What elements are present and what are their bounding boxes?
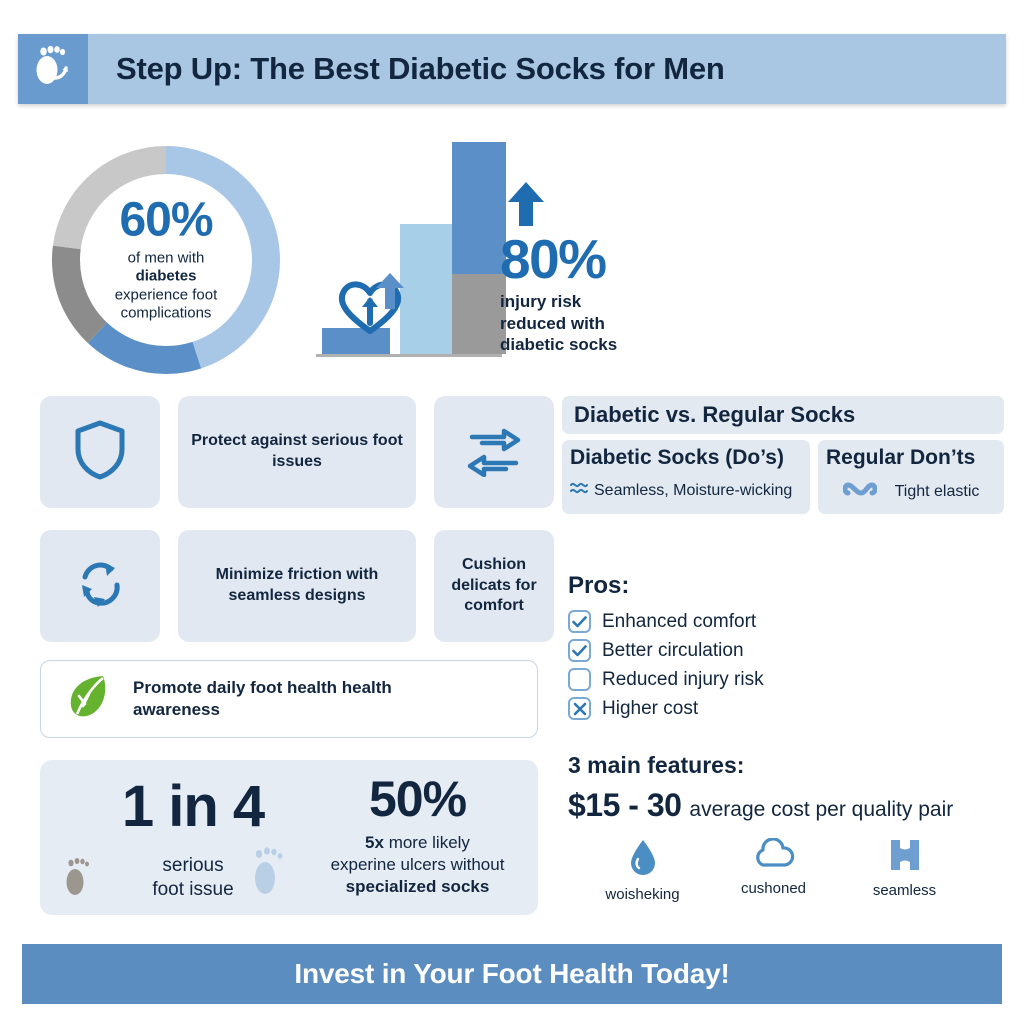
- donut-subtitle: of men with diabetes experience foot com…: [86, 250, 246, 324]
- feature-item-label: woisheking: [590, 886, 695, 903]
- footprint-arrow-icon: [31, 42, 75, 97]
- comparison-title: Diabetic vs. Regular Socks: [562, 396, 1004, 434]
- feature-card-cushion[interactable]: Cushion delicats for comfort: [434, 530, 554, 642]
- stat-80-line2: reduced with: [500, 314, 605, 333]
- comparison-column-dont: Regular Don’ts Tight elastic: [818, 440, 1004, 514]
- swap-arrows-icon: [464, 423, 524, 482]
- pros-item[interactable]: Enhanced comfort: [568, 610, 988, 633]
- leaf-banner[interactable]: Promote daily foot health health awarene…: [40, 660, 538, 738]
- donut-sub-line2: diabetes: [136, 268, 197, 285]
- wave-lines-icon: [570, 479, 588, 502]
- pros-section: Pros: Enhanced comfort Better circulatio…: [568, 572, 988, 726]
- feature-card-label: Protect against serious foot issues: [186, 431, 408, 473]
- page-header: Step Up: The Best Diabetic Socks for Men: [18, 34, 1006, 104]
- stat-1in4-label: serious foot issue: [88, 854, 298, 902]
- bar-chart: [312, 145, 502, 360]
- stat-80-line1: injury risk: [500, 292, 581, 311]
- price-line: $15 - 30 average cost per quality pair: [568, 787, 1008, 824]
- stat-50: 50% 5x more likely experine ulcers witho…: [310, 774, 525, 898]
- water-drop-icon: [628, 863, 658, 880]
- stat-1in4-value: 1 in 4: [88, 778, 298, 836]
- stat-50-line1: more likely: [384, 833, 470, 852]
- feature-card-shield[interactable]: [40, 396, 160, 508]
- stat-1in4-line2: foot issue: [152, 879, 233, 900]
- header-icon-tile: [18, 34, 88, 104]
- donut-chart: 60% of men with diabetes experience foot…: [46, 140, 286, 380]
- stat-50-line2: experine ulcers without: [331, 855, 505, 874]
- stat-80-percent: 80%: [500, 233, 680, 285]
- comparison-do-item: Seamless, Moisture-wicking: [594, 482, 792, 500]
- small-up-arrow-icon: [374, 271, 406, 316]
- seamless-h-icon: [889, 859, 921, 876]
- comparison-do-row: Seamless, Moisture-wicking: [570, 479, 802, 502]
- cloud-icon: [753, 857, 795, 874]
- checkbox-empty-icon[interactable]: [568, 668, 591, 691]
- donut-percent: 60%: [86, 197, 246, 245]
- pros-item-label: Enhanced comfort: [602, 611, 756, 633]
- bottom-stats-block: 1 in 4 serious foot issue 50% 5x more li…: [40, 760, 538, 915]
- recycle-arrows-icon: [71, 555, 129, 618]
- pros-item-label: Higher cost: [602, 698, 698, 720]
- pros-item[interactable]: Better circulation: [568, 639, 988, 662]
- stat-80-line3: diabetic socks: [500, 335, 617, 354]
- donut-sub-line4: complications: [121, 305, 212, 322]
- price-description: average cost per quality pair: [689, 798, 953, 822]
- shield-icon: [74, 419, 126, 486]
- feature-card-label: Minimize friction with seamless designs: [186, 565, 408, 607]
- feature-card-grid: Protect against serious foot issues Mini…: [40, 396, 540, 642]
- infinity-icon: [843, 479, 877, 504]
- leaf-icon: [65, 672, 109, 727]
- stat-1in4: 1 in 4 serious foot issue: [88, 778, 298, 902]
- pros-title: Pros:: [568, 572, 988, 600]
- pros-item[interactable]: Reduced injury risk: [568, 668, 988, 691]
- leaf-banner-text: Promote daily foot health health awarene…: [133, 677, 463, 722]
- bar-chart-baseline: [316, 354, 502, 357]
- features-title: 3 main features:: [568, 752, 1008, 779]
- bar-3-upper: [452, 142, 506, 274]
- stat-50-line3: specialized socks: [346, 877, 490, 896]
- feature-card-protect[interactable]: Protect against serious foot issues: [178, 396, 416, 508]
- footer-cta-text: Invest in Your Foot Health Today!: [294, 958, 729, 990]
- comparison-dont-heading: Regular Don’ts: [826, 446, 996, 470]
- page-footer: Invest in Your Foot Health Today!: [22, 944, 1002, 1004]
- donut-sub-line3: experience foot: [115, 287, 218, 304]
- page-title: Step Up: The Best Diabetic Socks for Men: [116, 51, 725, 87]
- feature-item-label: seamless: [852, 882, 957, 899]
- stat-50-value: 50%: [310, 774, 525, 824]
- pros-item-label: Reduced injury risk: [602, 669, 764, 691]
- pros-item[interactable]: Higher cost: [568, 697, 988, 720]
- comparison-column-do: Diabetic Socks (Do’s) Seamless, Moisture…: [562, 440, 810, 514]
- feature-item-seamless[interactable]: seamless: [852, 838, 957, 903]
- feature-card-swap[interactable]: [434, 396, 554, 508]
- stat-50-label: 5x more likely experine ulcers without s…: [310, 832, 525, 898]
- stat-1in4-line1: serious: [162, 855, 223, 876]
- stat-50-prefix: 5x: [365, 833, 384, 852]
- features-section: 3 main features: $15 - 30 average cost p…: [568, 752, 1008, 903]
- feature-card-recycle[interactable]: [40, 530, 160, 642]
- checkbox-checked-icon[interactable]: [568, 639, 591, 662]
- comparison-dont-item: Tight elastic: [895, 483, 980, 501]
- comparison-do-heading: Diabetic Socks (Do’s): [570, 446, 802, 470]
- feature-item-cushioned[interactable]: cushoned: [721, 838, 826, 903]
- feature-card-label: Cushion delicats for comfort: [442, 555, 546, 617]
- pros-item-label: Better circulation: [602, 640, 744, 662]
- stat-80-block: 80% injury risk reduced with diabetic so…: [500, 180, 680, 356]
- stat-80-subtitle: injury risk reduced with diabetic socks: [500, 291, 680, 356]
- donut-center-label: 60% of men with diabetes experience foot…: [86, 197, 246, 324]
- checkbox-cross-icon[interactable]: [568, 697, 591, 720]
- feature-icon-row: woisheking cushoned seamless: [568, 838, 1008, 903]
- feature-item-label: cushoned: [721, 880, 826, 897]
- comparison-dont-row: Tight elastic: [826, 479, 996, 504]
- feature-card-friction[interactable]: Minimize friction with seamless designs: [178, 530, 416, 642]
- feature-item-wicking[interactable]: woisheking: [590, 838, 695, 903]
- comparison-columns: Diabetic Socks (Do’s) Seamless, Moisture…: [562, 440, 1004, 514]
- price-value: $15 - 30: [568, 787, 681, 824]
- donut-sub-line1: of men with: [128, 250, 205, 267]
- checkbox-checked-icon[interactable]: [568, 610, 591, 633]
